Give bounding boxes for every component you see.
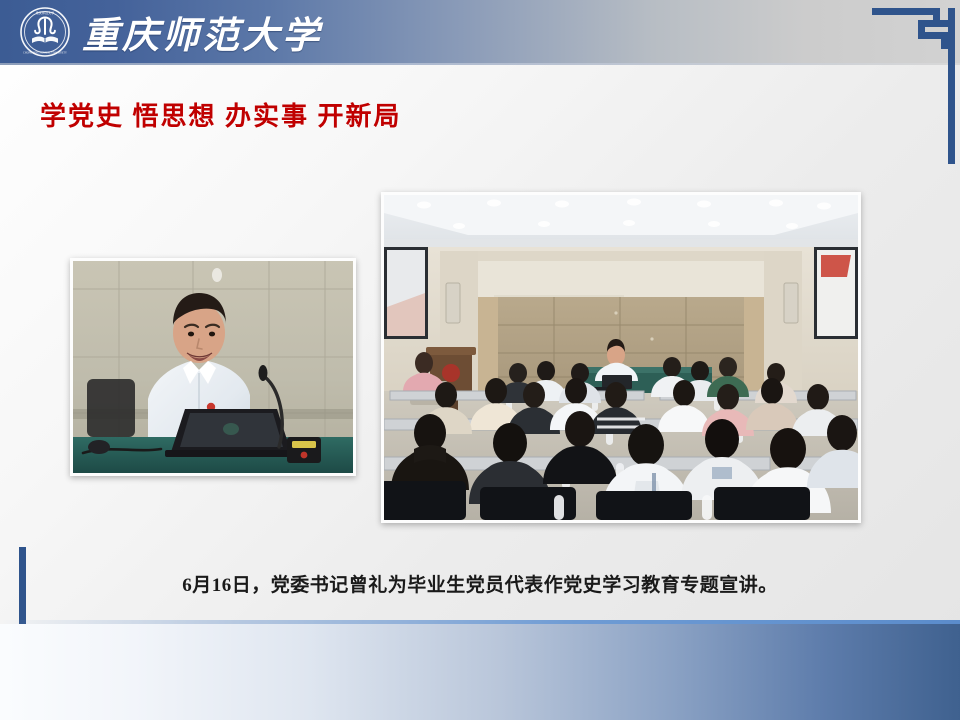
footer-band	[0, 624, 960, 720]
photo-caption: 6月16日，党委书记曾礼为毕业生党员代表作党史学习教育专题宣讲。	[0, 570, 960, 597]
lecture-hall-photo	[381, 192, 861, 523]
corner-ornament-top-right-icon	[856, 8, 960, 169]
university-seal-icon: 重庆师范大学 CHONGQING NORMAL UNIVERSITY	[19, 6, 71, 58]
svg-text:CHONGQING NORMAL UNIVERSITY: CHONGQING NORMAL UNIVERSITY	[23, 52, 67, 55]
svg-text:重庆师范大学: 重庆师范大学	[36, 10, 55, 15]
university-name: 重庆师范大学	[82, 5, 322, 59]
header-underline	[0, 63, 960, 65]
speaker-portrait-photo	[70, 258, 356, 476]
presentation-slide: 重庆师范大学 CHONGQING NORMAL UNIVERSITY 重庆师范大…	[0, 0, 960, 720]
page-title: 学党史 悟思想 办实事 开新局	[40, 96, 402, 133]
